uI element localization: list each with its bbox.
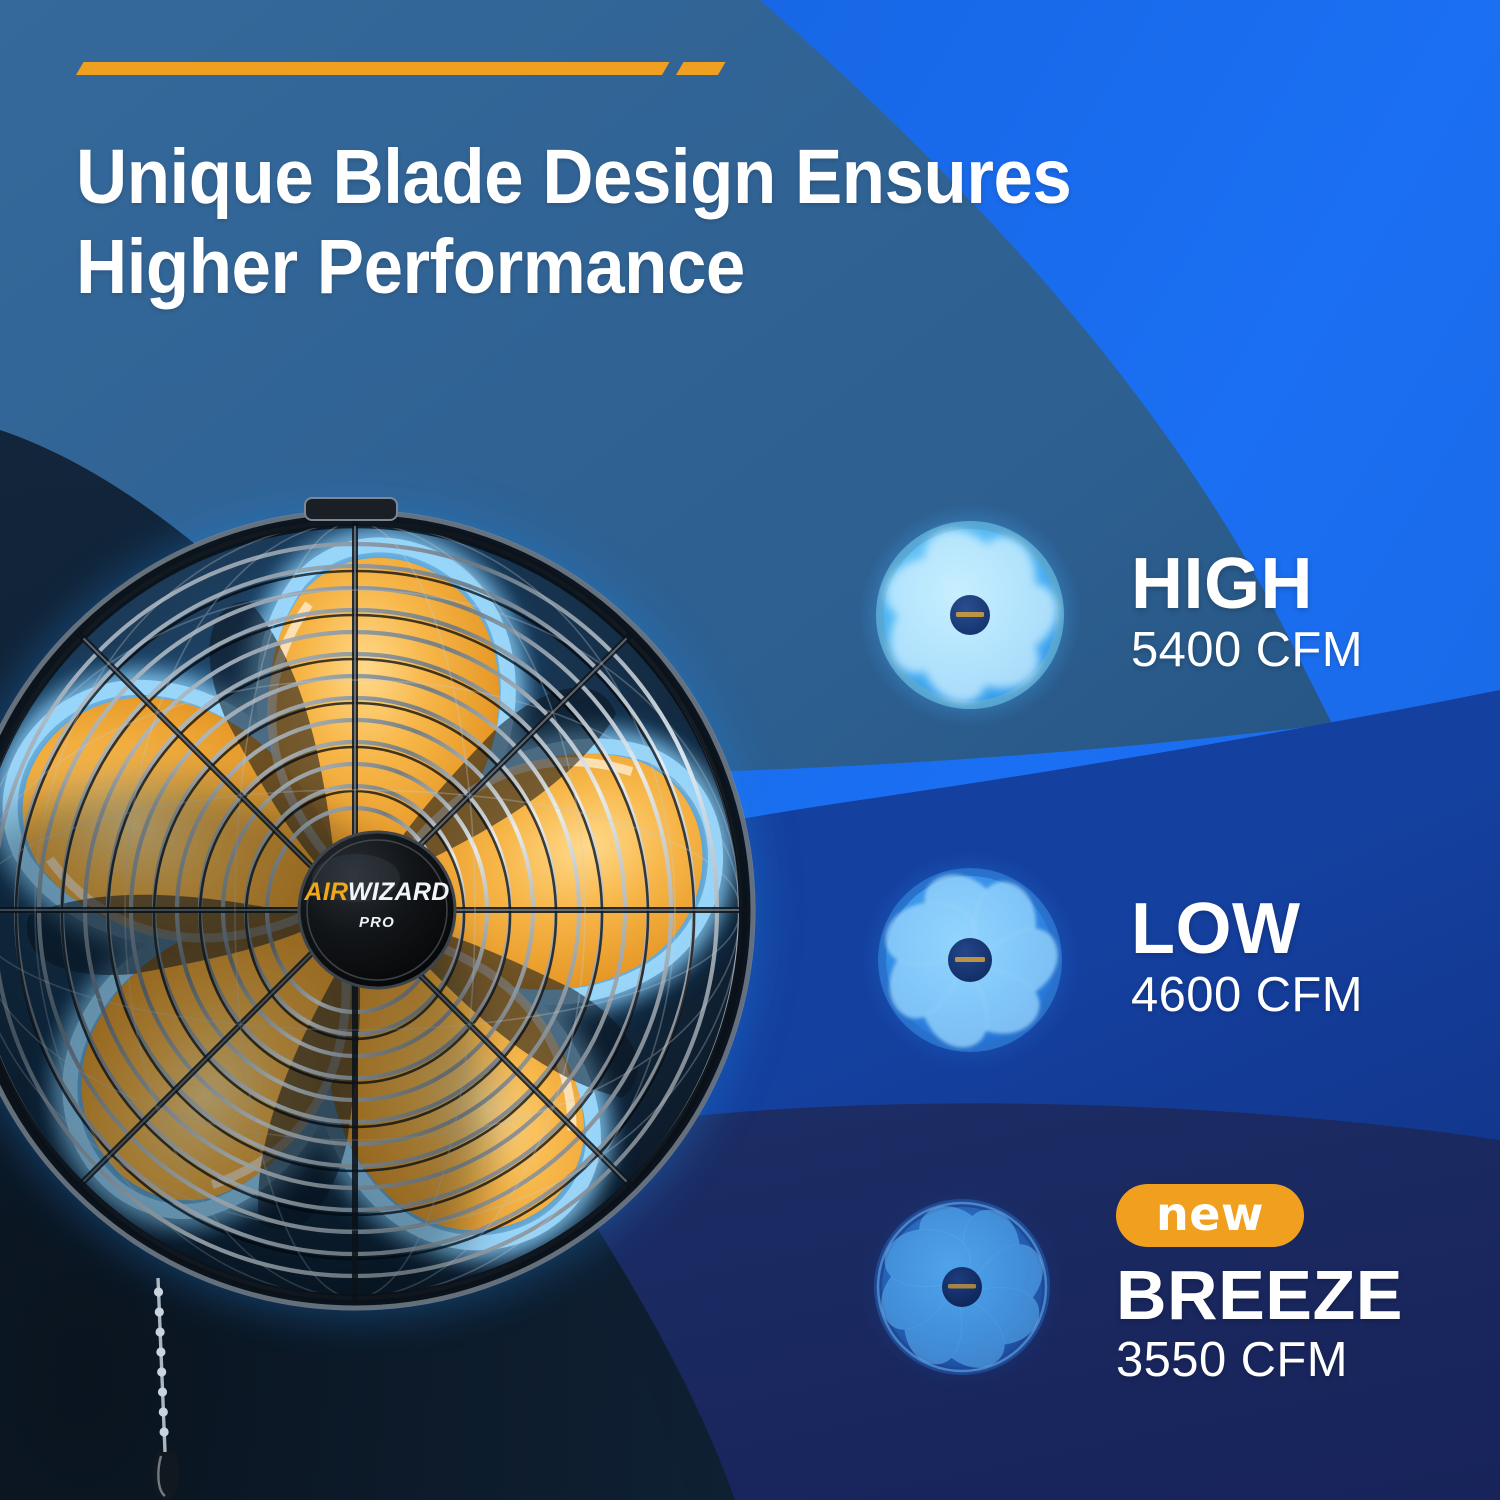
speed-row-low: LOW 4600 CFM [855,845,1363,1075]
speed-row-breeze: new BREEZE 3550 CFM [855,1180,1403,1395]
new-badge: new [1116,1184,1304,1247]
speed-row-high: HIGH 5400 CFM [855,500,1363,730]
headline-block: Unique Blade Design Ensures Higher Perfo… [76,58,1176,312]
speed-name-high: HIGH [1131,549,1363,620]
speed-name-breeze: BREEZE [1116,1261,1403,1330]
marketing-banner: AIRWIZARD PRO Unique Blade Design Ensure… [0,0,1500,1500]
speed-cfm-breeze: 3550 CFM [1116,1330,1403,1391]
speed-name-low: LOW [1131,894,1363,965]
page-title: Unique Blade Design Ensures Higher Perfo… [76,132,1088,312]
fan-icon-breeze [855,1180,1070,1395]
accent-rule-dash [676,62,726,75]
fan-icon-high [855,500,1085,730]
speed-text-low: LOW 4600 CFM [1131,894,1363,1026]
fan-icon-low [855,845,1085,1075]
accent-rule-icon [76,58,1176,80]
pull-chain [153,1278,180,1500]
new-badge-label: new [1156,1191,1264,1237]
speed-text-high: HIGH 5400 CFM [1131,549,1363,681]
speed-cfm-low: 4600 CFM [1131,965,1363,1026]
speed-text-breeze: new BREEZE 3550 CFM [1116,1184,1403,1391]
speed-cfm-high: 5400 CFM [1131,620,1363,681]
accent-rule-bar [76,62,670,75]
